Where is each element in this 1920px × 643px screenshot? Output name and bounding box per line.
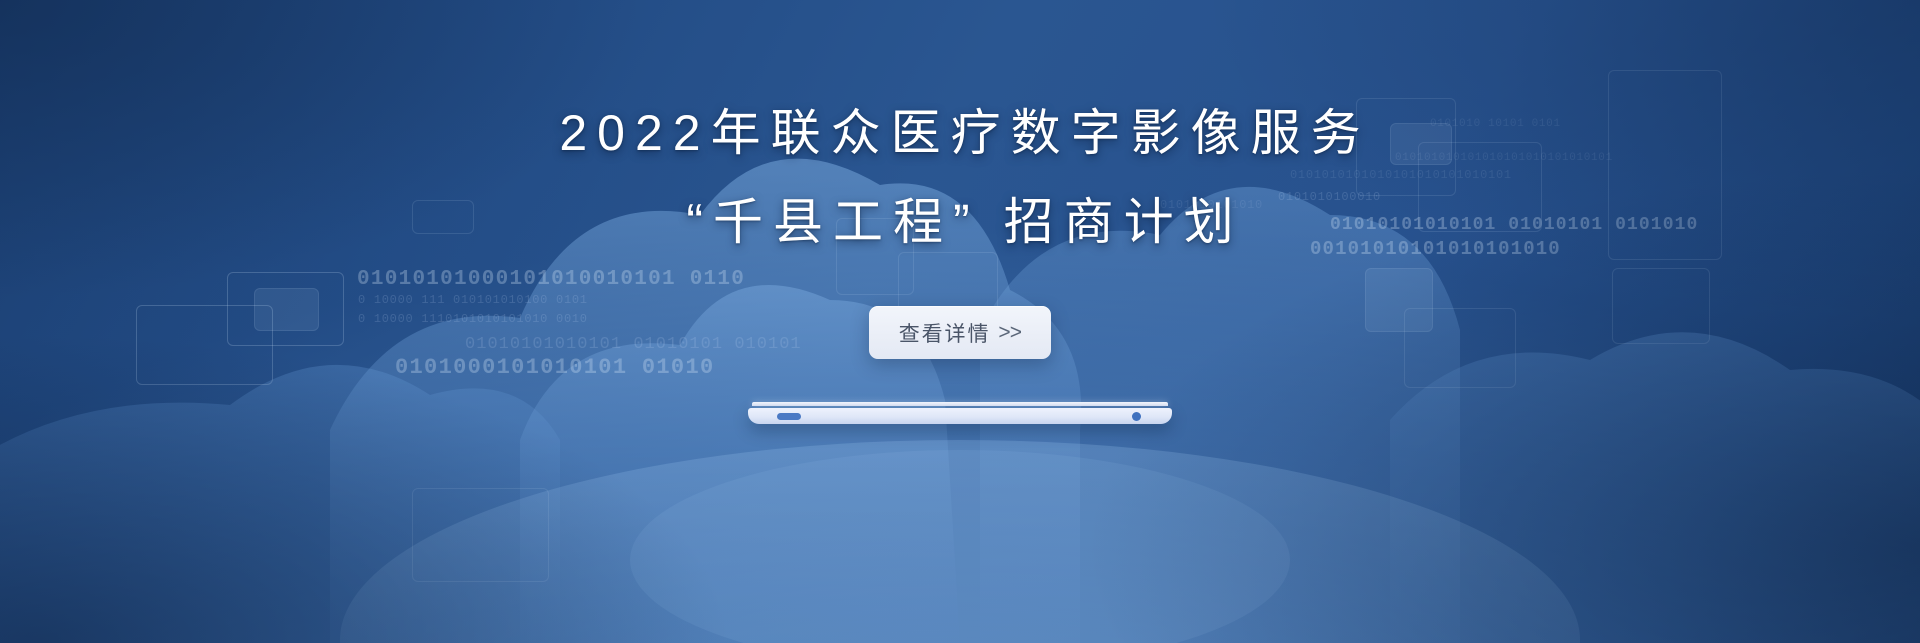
banner-title-line-1: 2022年联众医疗数字影像服务 — [549, 108, 1370, 158]
laptop-body — [748, 408, 1172, 424]
promo-banner: 01010101000101010010101 0110 0 10000 111… — [0, 0, 1920, 643]
laptop-screen-edge — [752, 402, 1168, 406]
chevron-right-double-icon: >> — [998, 321, 1021, 345]
view-details-button[interactable]: 查看详情 >> — [869, 306, 1051, 359]
laptop-touchbar — [777, 413, 801, 420]
laptop-base-illustration — [748, 402, 1172, 424]
banner-content: 2022年联众医疗数字影像服务 “千县工程” 招商计划 查看详情 >> — [0, 0, 1920, 643]
laptop-indicator-dot — [1132, 412, 1141, 421]
banner-title-line-2: “千县工程” 招商计划 — [676, 197, 1243, 247]
view-details-label: 查看详情 — [899, 318, 991, 348]
